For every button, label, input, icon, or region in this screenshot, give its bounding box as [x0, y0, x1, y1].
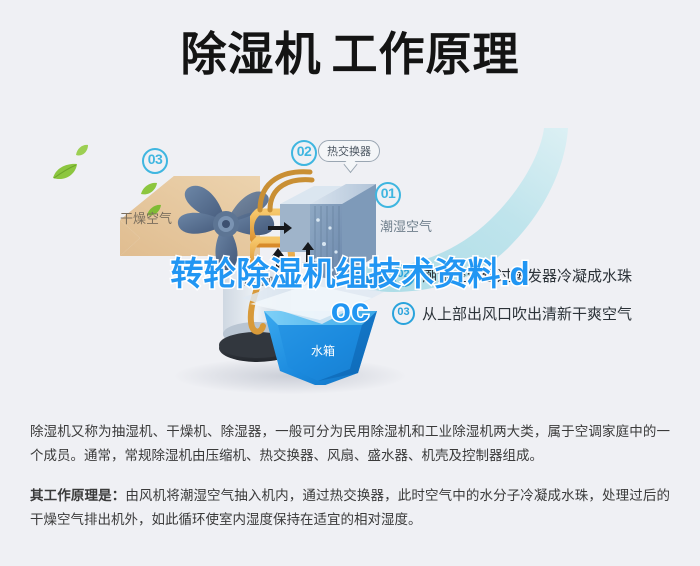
diagram-badge-03: 03	[142, 148, 168, 174]
badge-03-ring: 03	[142, 148, 168, 174]
label-compressor: 压缩机	[244, 273, 274, 288]
label-dry-air: 干燥空气	[120, 208, 172, 227]
heat-exchanger-callout: 热交换器	[318, 140, 380, 162]
label-humid-air: 潮湿空气	[380, 216, 432, 235]
paragraph-2-rest: 由风机将潮湿空气抽入机内，通过热交换器，此时空气中的水分子冷凝成水珠，处理过后的…	[30, 488, 670, 527]
legend-number: 03	[392, 302, 415, 325]
title-text: 除湿机工作原理	[181, 22, 520, 86]
legend-item: 03 从上部出风口吹出清新干爽空气	[392, 294, 692, 332]
legend-number: 02	[392, 264, 415, 287]
diagram-badge-01: 01	[375, 182, 401, 208]
page-title: 除湿机工作原理	[0, 22, 700, 86]
title-part-1: 除湿机	[181, 28, 322, 80]
leaf-icon	[140, 182, 158, 197]
leaf-icon	[75, 144, 89, 158]
label-water-tank: 水箱	[311, 342, 335, 359]
badge-01-ring: 01	[375, 182, 401, 208]
paragraph-2-lead: 其工作原理是：	[30, 488, 125, 503]
legend-list: 02 潮湿空气经过蒸发器冷凝成水珠 03 从上部出风口吹出清新干爽空气	[392, 256, 692, 332]
leaf-icon	[52, 162, 78, 182]
legend-label: 潮湿空气经过蒸发器冷凝成水珠	[422, 265, 632, 286]
paragraph-1: 除湿机又称为抽湿机、干燥机、除湿器，一般可分为民用除湿机和工业除湿机两大类，属于…	[30, 420, 670, 468]
legend-label: 从上部出风口吹出清新干爽空气	[422, 303, 632, 324]
legend-item: 02 潮湿空气经过蒸发器冷凝成水珠	[392, 256, 692, 294]
badge-02-ring: 02	[291, 140, 317, 166]
paragraph-2: 其工作原理是：由风机将潮湿空气抽入机内，通过热交换器，此时空气中的水分子冷凝成水…	[30, 484, 670, 532]
diagram-badge-02: 02	[291, 140, 317, 166]
body-copy: 除湿机又称为抽湿机、干燥机、除湿器，一般可分为民用除湿机和工业除湿机两大类，属于…	[30, 420, 670, 548]
title-part-2: 工作原理	[332, 28, 520, 80]
